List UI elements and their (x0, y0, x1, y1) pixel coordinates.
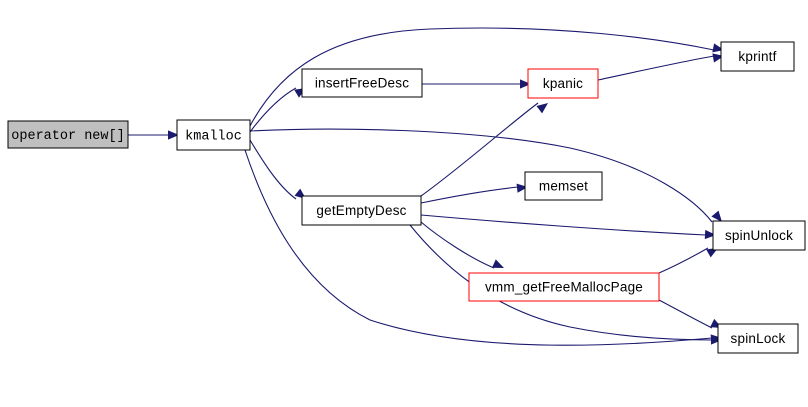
edge-kmalloc-to-getEmptyDesc (250, 140, 309, 203)
arrowhead-icon (492, 259, 506, 272)
node-spinLock[interactable]: spinLock (718, 324, 798, 353)
edge-line (250, 140, 296, 199)
edge-line (421, 187, 518, 203)
edge-line (659, 248, 708, 273)
edge-vmm_getFreeMallocPage-to-spinUnlock (659, 244, 720, 273)
node-operator_new[interactable]: operator new[] (8, 121, 128, 148)
node-memset[interactable]: memset (525, 172, 602, 200)
node-vmm_getFreeMallocPage[interactable]: vmm_getFreeMallocPage (469, 273, 659, 301)
edge-getEmptyDesc-to-spinUnlock (421, 215, 716, 240)
edge-line (421, 215, 706, 235)
node-kmalloc[interactable]: kmalloc (177, 120, 250, 150)
call-graph-canvas: operator new[]kmallocinsertFreeDesckpani… (0, 0, 808, 407)
node-label: kprintf (738, 49, 776, 64)
edge-getEmptyDesc-to-memset (421, 182, 529, 203)
node-spinUnlock[interactable]: spinUnlock (713, 221, 805, 250)
edge-kpanic-to-kprintf (598, 51, 725, 80)
edge-getEmptyDesc-to-vmm_getFreeMallocPage (421, 222, 506, 272)
node-label: spinUnlock (725, 228, 793, 243)
node-kprintf[interactable]: kprintf (721, 42, 794, 71)
node-label: operator new[] (11, 129, 124, 144)
edge-line (598, 56, 714, 80)
edge-operator_new-to-kmalloc (128, 130, 179, 139)
node-label: kmalloc (185, 130, 242, 145)
node-label: kpanic (543, 76, 583, 91)
node-label: insertFreeDesc (315, 76, 409, 91)
edge-line (421, 103, 538, 196)
node-kpanic[interactable]: kpanic (528, 69, 598, 98)
edge-line (250, 88, 296, 132)
edge-line (659, 300, 712, 328)
node-label: spinLock (731, 331, 786, 346)
edge-kmalloc-to-insertFreeDesc (250, 84, 308, 132)
arrowhead-icon (536, 99, 550, 113)
node-label: getEmptyDesc (316, 203, 406, 218)
edge-line (421, 222, 494, 268)
edge-vmm_getFreeMallocPage-to-spinLock (659, 300, 724, 332)
edge-insertFreeDesc-to-kpanic (422, 79, 531, 88)
node-label: memset (539, 179, 588, 194)
call-graph-svg: operator new[]kmallocinsertFreeDesckpani… (0, 0, 808, 407)
node-getEmptyDesc[interactable]: getEmptyDesc (302, 196, 421, 225)
node-insertFreeDesc[interactable]: insertFreeDesc (302, 69, 422, 97)
edge-line (245, 150, 712, 345)
node-label: vmm_getFreeMallocPage (485, 280, 643, 295)
edge-kmalloc-to-spinLock (245, 150, 722, 345)
